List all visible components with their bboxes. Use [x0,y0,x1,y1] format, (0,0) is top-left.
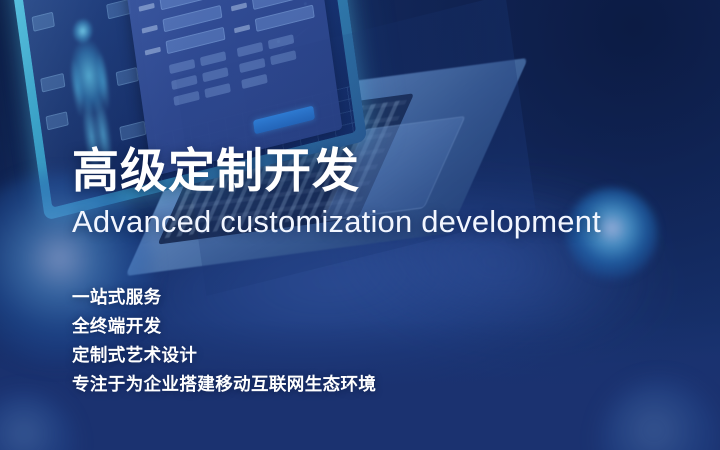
panel-tag [32,12,55,32]
dialog-field-label [142,25,158,34]
dialog-chip [200,51,226,66]
promo-banner: 高级定制开发 Advanced customization developmen… [0,0,720,450]
feature-list: 一站式服务 全终端开发 定制式艺术设计 专注于为企业搭建移动互联网生态环境 [72,283,376,399]
page-title: 高级定制开发 [72,142,672,200]
list-item: 一站式服务 [72,283,376,312]
headline-block: 高级定制开发 Advanced customization developmen… [72,142,672,242]
dialog-chip [204,83,230,98]
dialog-chip [268,34,294,49]
panel-tag [119,121,146,141]
dialog-chip [237,42,263,57]
list-item: 专注于为企业搭建移动互联网生态环境 [72,370,376,399]
dialog-input [255,4,315,31]
dialog-field-label [234,24,250,33]
list-item: 全终端开发 [72,312,376,341]
list-item: 定制式艺术设计 [72,341,376,370]
dialog-chip [270,50,296,65]
dialog-chip [202,67,228,82]
dialog-submit-button [253,105,315,134]
dialog-chip [171,75,197,90]
dialog-chip [239,58,265,73]
dialog-chip [173,91,199,106]
dialog-input [165,27,225,54]
dialog-field-label [145,47,161,56]
dialog-field-label [139,3,155,12]
panel-tag [116,67,139,86]
panel-tag [40,73,65,93]
panel-tag [45,111,68,130]
dialog-chip [241,74,267,89]
dialog-chip [169,59,195,74]
dialog-field-label [231,3,247,12]
page-subtitle: Advanced customization development [72,202,672,242]
